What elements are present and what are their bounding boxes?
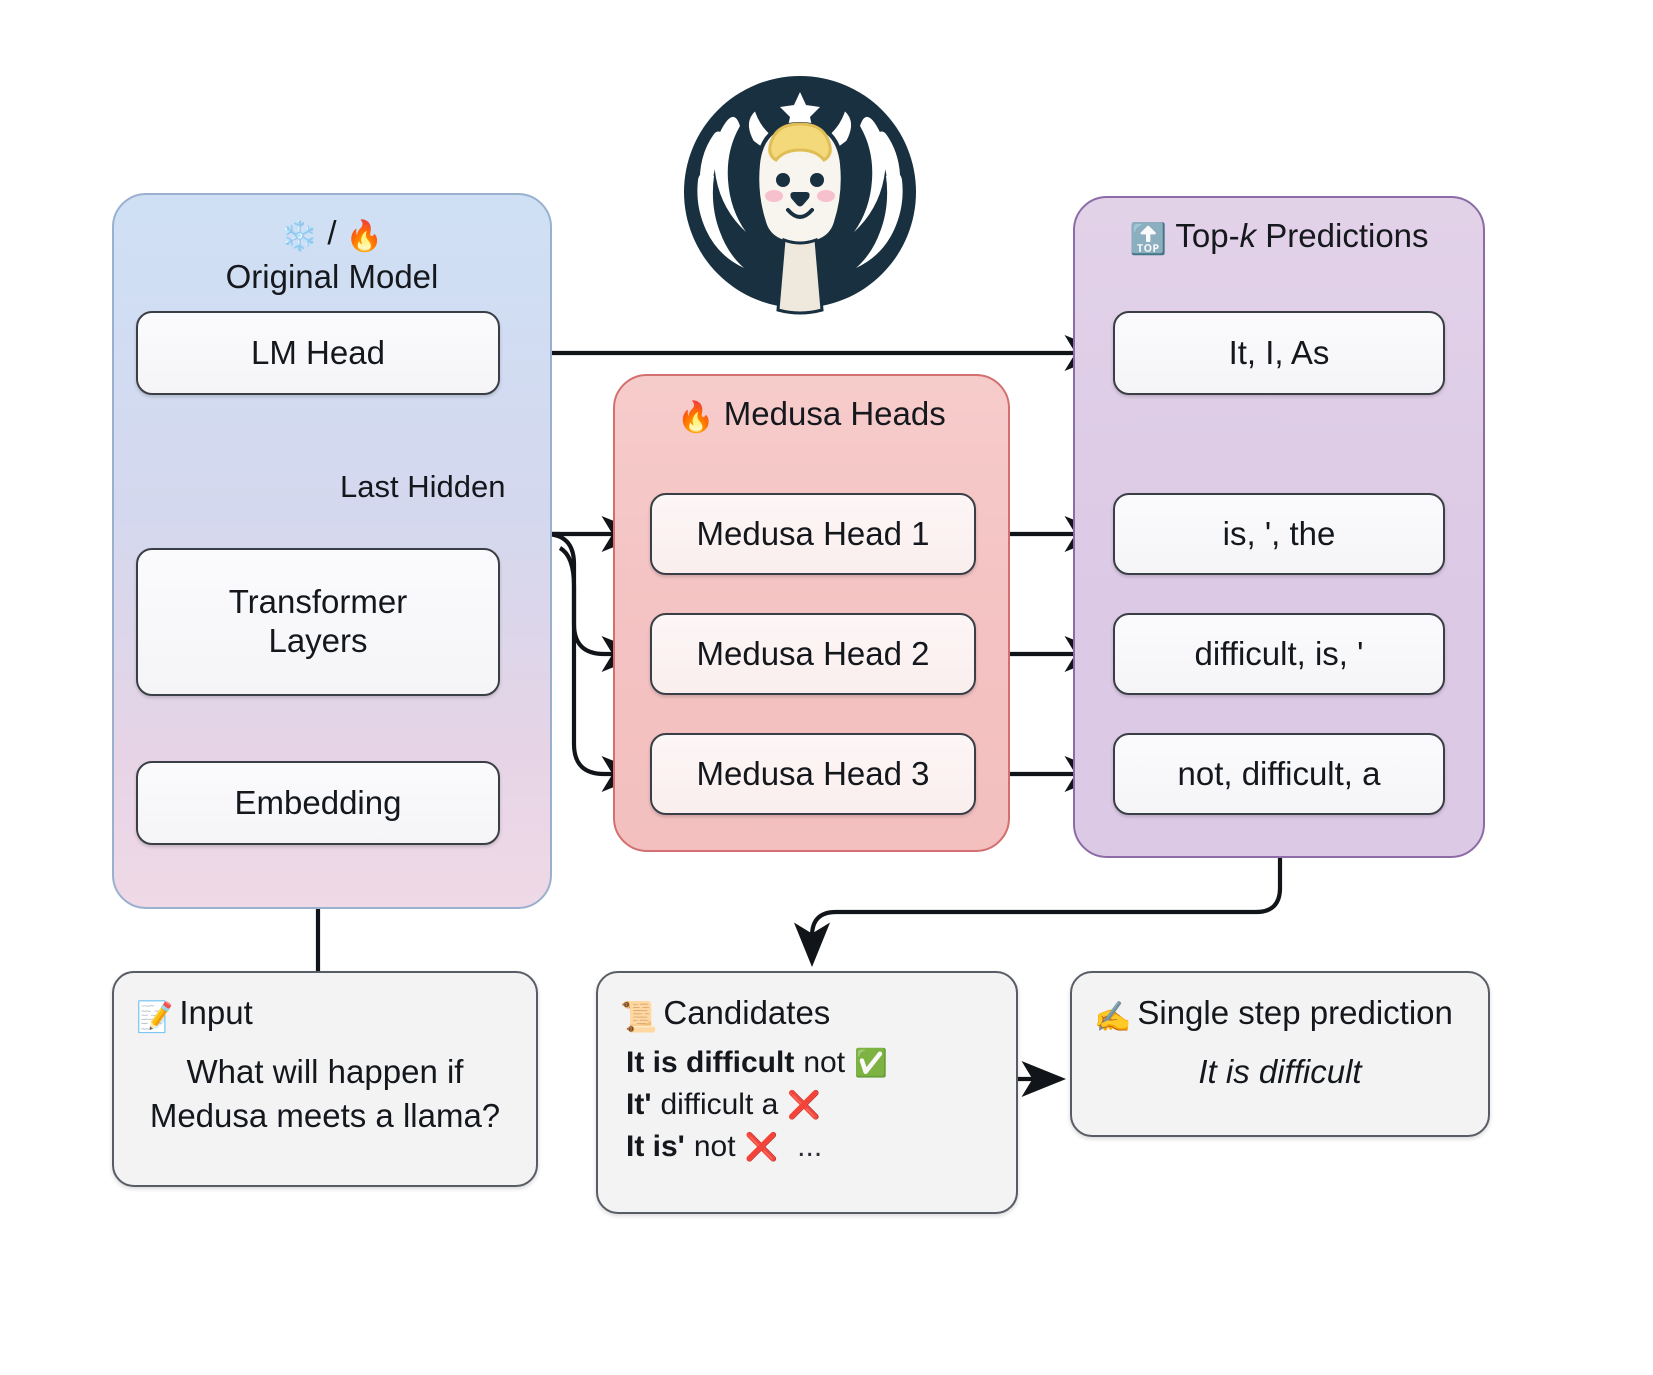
card-input: 📝Input What will happen if Medusa meets … (112, 971, 538, 1187)
candidate-prefix: It is' (626, 1126, 685, 1168)
panel-medusa-heads-title: 🔥 Medusa Heads (615, 394, 1008, 438)
medusa-llama-logo (676, 68, 924, 316)
candidate-list: It is difficult not ✅ It' difficult a ❌ … (626, 1042, 1016, 1168)
check-mark-icon: ✅ (854, 1050, 888, 1077)
panel-original-model-title: ❄️ / 🔥 Original Model (114, 213, 550, 297)
card-input-header: 📝Input (114, 973, 536, 1038)
fire-icon: 🔥 (346, 220, 383, 253)
panel-title-text: Original Model (226, 258, 439, 295)
node-lm-head[interactable]: LM Head (136, 311, 500, 395)
candidate-prefix: It' (626, 1084, 651, 1126)
scroll-icon: 📜 (620, 1001, 657, 1034)
list-item[interactable]: It is difficult not ✅ (626, 1042, 1016, 1084)
node-medusa-head-2[interactable]: Medusa Head 2 (650, 613, 976, 695)
node-transformer-layers-label-line2: Layers (268, 622, 367, 661)
panel-topk-predictions-title: 🔝 Top-k Predictions (1075, 216, 1483, 260)
node-prediction-0-label: It, I, As (1229, 334, 1330, 373)
candidate-prefix: It is difficult (626, 1042, 794, 1084)
node-transformer-layers[interactable]: Transformer Layers (136, 548, 500, 696)
node-embedding[interactable]: Embedding (136, 761, 500, 845)
candidate-ellipsis: ... (797, 1126, 822, 1168)
candidate-suffix: not (803, 1042, 845, 1084)
diagram-canvas: ❄️ / 🔥 Original Model LM Head Transforme… (0, 0, 1653, 1375)
panel-title-separator: / (327, 214, 336, 251)
card-candidates-title: Candidates (663, 994, 830, 1031)
node-prediction-1-label: is, ', the (1223, 515, 1336, 554)
node-prediction-1[interactable]: is, ', the (1113, 493, 1445, 575)
cross-mark-icon: ❌ (745, 1134, 779, 1161)
card-candidates-header: 📜Candidates (598, 973, 1016, 1038)
snowflake-icon: ❄️ (281, 220, 318, 253)
panel-topk-title-k: k (1240, 217, 1257, 254)
writing-hand-icon: ✍️ (1094, 1001, 1131, 1034)
node-embedding-label: Embedding (235, 784, 402, 823)
candidate-suffix: difficult a (660, 1084, 778, 1126)
candidate-suffix: not (694, 1126, 736, 1168)
panel-topk-title-suffix: Predictions (1256, 217, 1428, 254)
card-candidates: 📜Candidates It is difficult not ✅ It' di… (596, 971, 1018, 1214)
cross-mark-icon: ❌ (787, 1092, 821, 1119)
card-single-step-prediction: ✍️Single step prediction It is difficult (1070, 971, 1490, 1137)
card-single-step-text: It is difficult (1072, 1052, 1488, 1092)
node-medusa-head-3-label: Medusa Head 3 (697, 755, 930, 794)
node-prediction-3-label: not, difficult, a (1177, 755, 1380, 794)
node-medusa-head-1[interactable]: Medusa Head 1 (650, 493, 976, 575)
node-medusa-head-3[interactable]: Medusa Head 3 (650, 733, 976, 815)
node-transformer-layers-label-line1: Transformer (229, 583, 407, 622)
edge-topk-to-candidates (812, 858, 1280, 962)
top-arrow-icon: 🔝 (1129, 223, 1166, 256)
memo-icon: 📝 (136, 1001, 173, 1034)
node-prediction-2[interactable]: difficult, is, ' (1113, 613, 1445, 695)
panel-topk-title-prefix: Top- (1175, 217, 1239, 254)
card-single-step-header: ✍️Single step prediction (1072, 973, 1488, 1038)
card-input-text: What will happen if Medusa meets a llama… (114, 1050, 536, 1138)
panel-medusa-title-text: Medusa Heads (724, 395, 946, 432)
node-prediction-3[interactable]: not, difficult, a (1113, 733, 1445, 815)
label-last-hidden: Last Hidden (340, 468, 600, 506)
card-single-step-title: Single step prediction (1137, 994, 1453, 1031)
node-medusa-head-2-label: Medusa Head 2 (697, 635, 930, 674)
node-medusa-head-1-label: Medusa Head 1 (697, 515, 930, 554)
list-item[interactable]: It' difficult a ❌ (626, 1084, 1016, 1126)
card-input-title: Input (179, 994, 252, 1031)
node-prediction-2-label: difficult, is, ' (1195, 635, 1364, 674)
node-lm-head-label: LM Head (251, 334, 385, 373)
fire-icon: 🔥 (677, 401, 714, 434)
node-prediction-0[interactable]: It, I, As (1113, 311, 1445, 395)
list-item[interactable]: It is' not ❌ ... (626, 1126, 1016, 1168)
